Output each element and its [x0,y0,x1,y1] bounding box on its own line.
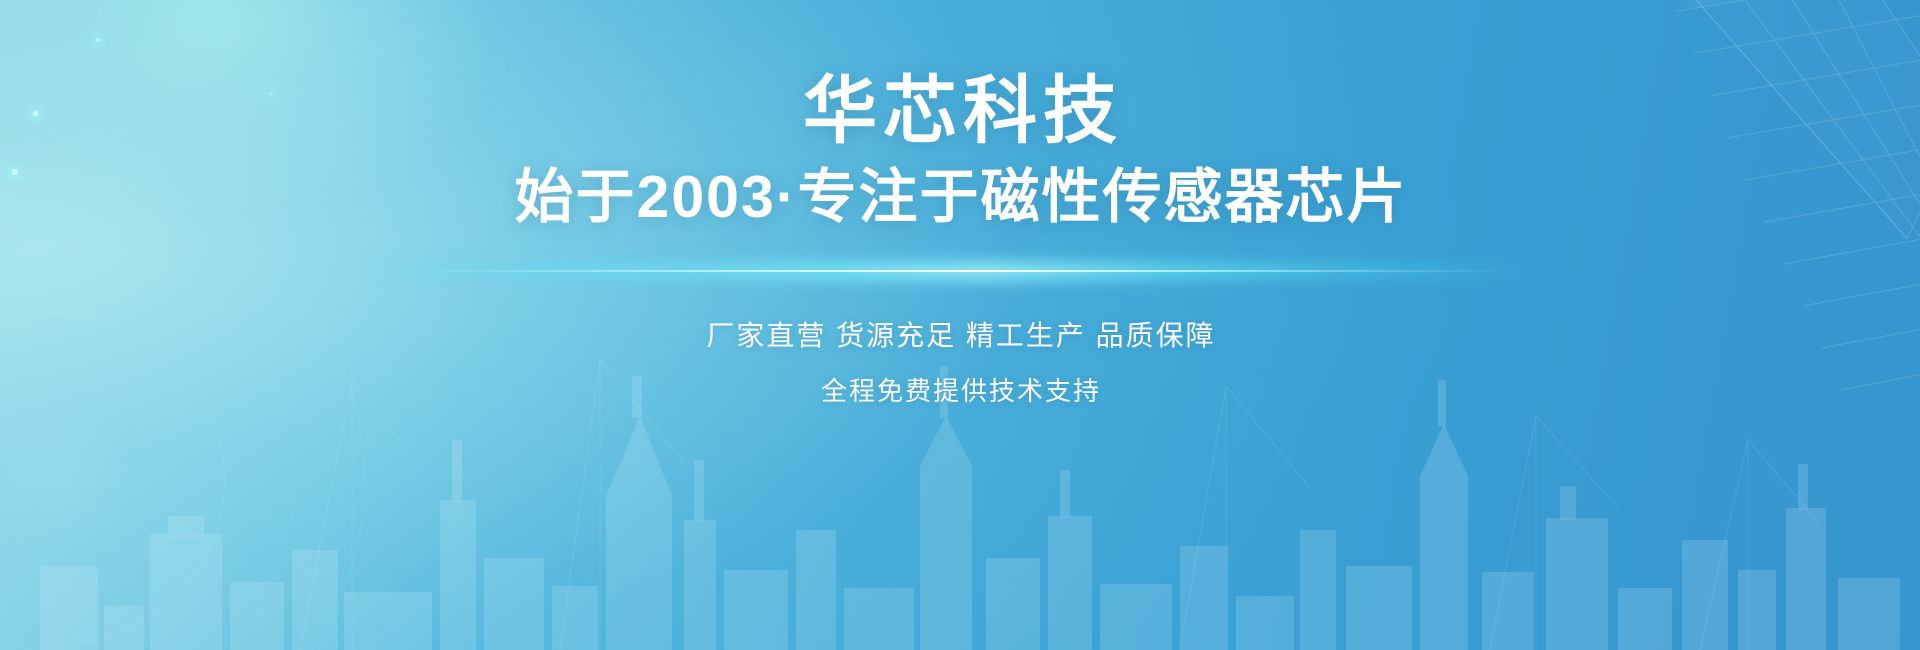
banner-content: 华芯科技 始于2003·专注于磁性传感器芯片 厂家直营 货源充足 精工生产 品质… [0,0,1920,650]
divider-core-line [410,270,1510,272]
feature-tagline: 厂家直营 货源充足 精工生产 品质保障 [704,322,1215,350]
glow-divider [410,260,1510,282]
hero-banner: 华芯科技 始于2003·专注于磁性传感器芯片 厂家直营 货源充足 精工生产 品质… [0,0,1920,650]
support-tagline: 全程免费提供技术支持 [819,378,1101,404]
brand-title: 华芯科技 [797,74,1123,148]
brand-subtitle: 始于2003·专注于磁性传感器芯片 [513,168,1408,227]
